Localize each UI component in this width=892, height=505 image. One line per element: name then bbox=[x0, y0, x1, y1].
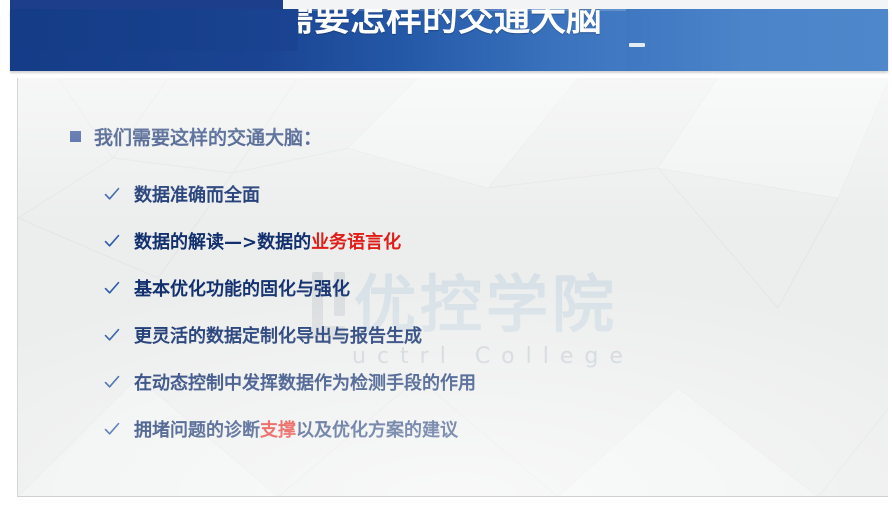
check-icon bbox=[104, 233, 120, 249]
check-icon bbox=[104, 186, 120, 202]
title-trailing-fragment bbox=[629, 43, 645, 47]
slide-content: 我们需要这样的交通大脑： 数据准确而全面 数据的解读—>数据的业务语言化 基本优… bbox=[18, 78, 888, 496]
title-clip: 交通信号优化需要怎样的交通大脑 bbox=[10, 9, 888, 71]
check-icon bbox=[104, 327, 120, 343]
list-item-text: 数据准确而全面 bbox=[134, 181, 260, 207]
lead-line: 我们需要这样的交通大脑： bbox=[70, 123, 322, 150]
list-item-text: 数据的解读—>数据的业务语言化 bbox=[134, 228, 401, 254]
check-icon bbox=[104, 421, 120, 437]
title-crop-mask-right bbox=[626, 9, 888, 71]
list-item-text: 拥堵问题的诊断支撑以及优化方案的建议 bbox=[134, 416, 458, 442]
title-top-accent-light bbox=[283, 0, 888, 9]
bullet-list: 数据准确而全面 数据的解读—>数据的业务语言化 基本优化功能的固化与强化 更灵活… bbox=[104, 170, 844, 452]
list-item-text: 在动态控制中发挥数据作为检测手段的作用 bbox=[134, 369, 476, 395]
highlight-text: 支撑 bbox=[260, 420, 296, 441]
list-item: 更灵活的数据定制化导出与报告生成 bbox=[104, 311, 844, 358]
slide-title-bar: 交通信号优化需要怎样的交通大脑 bbox=[10, 9, 888, 71]
presentation-slide: 优控学院 uctrl College 我们需要这样的交通大脑： 数据准确而全面 … bbox=[0, 0, 892, 505]
title-crop-mask-left bbox=[10, 9, 298, 51]
list-item: 拥堵问题的诊断支撑以及优化方案的建议 bbox=[104, 405, 844, 452]
title-top-accent-dark bbox=[10, 0, 283, 9]
list-item: 数据准确而全面 bbox=[104, 170, 844, 217]
square-bullet-icon bbox=[70, 131, 81, 142]
check-icon bbox=[104, 280, 120, 296]
list-item-text: 基本优化功能的固化与强化 bbox=[134, 275, 350, 301]
list-item-text: 更灵活的数据定制化导出与报告生成 bbox=[134, 322, 422, 348]
highlight-text: 业务语言化 bbox=[311, 232, 401, 253]
list-item: 在动态控制中发挥数据作为检测手段的作用 bbox=[104, 358, 844, 405]
list-item: 基本优化功能的固化与强化 bbox=[104, 264, 844, 311]
check-icon bbox=[104, 374, 120, 390]
slide-body-panel: 优控学院 uctrl College 我们需要这样的交通大脑： 数据准确而全面 … bbox=[17, 78, 888, 497]
list-item: 数据的解读—>数据的业务语言化 bbox=[104, 217, 844, 264]
lead-text: 我们需要这样的交通大脑： bbox=[94, 123, 322, 150]
